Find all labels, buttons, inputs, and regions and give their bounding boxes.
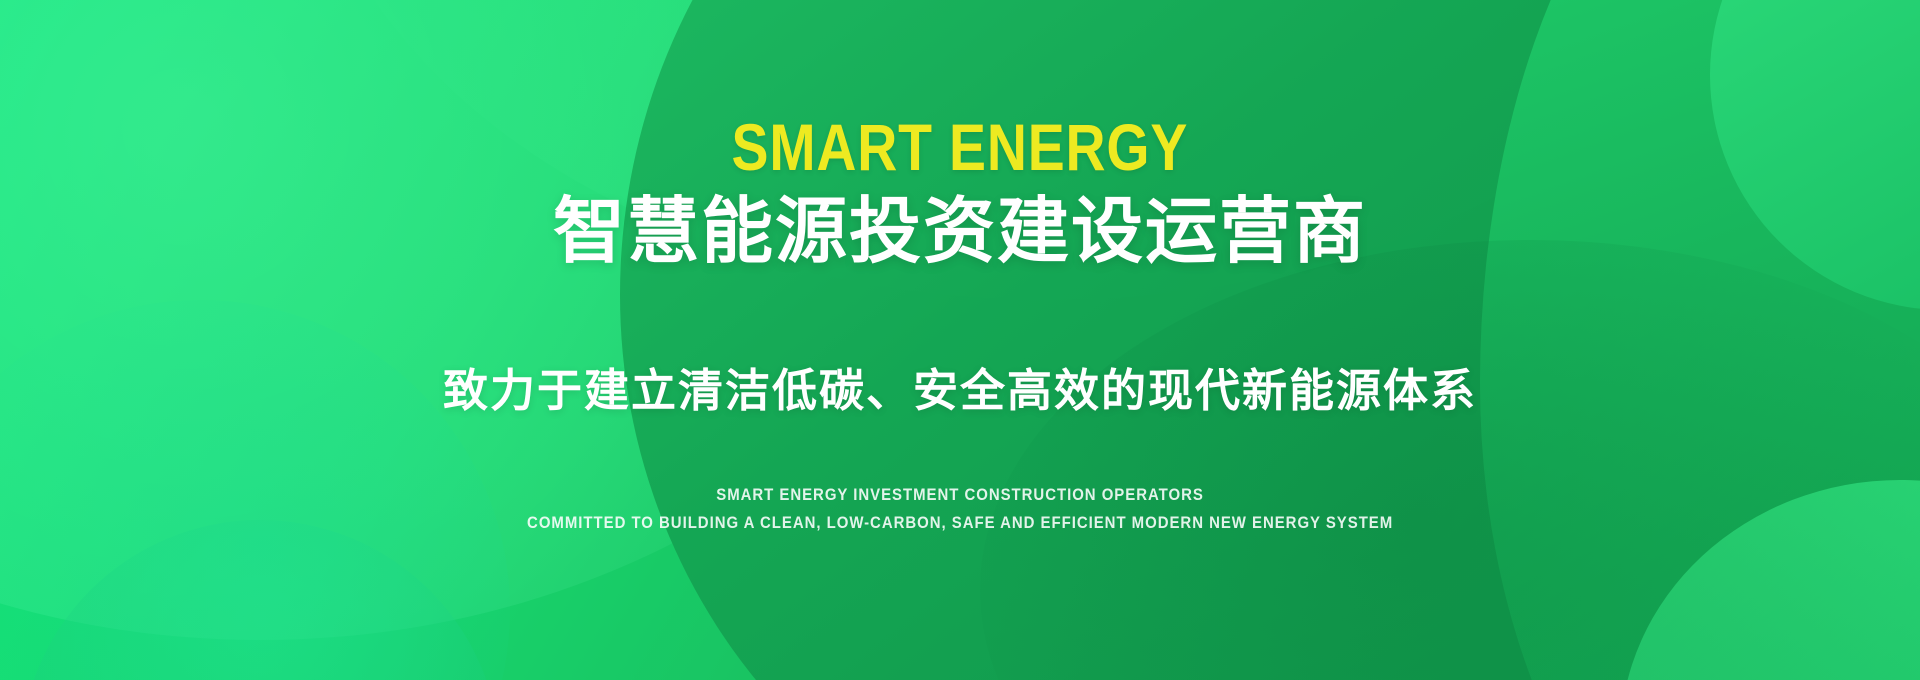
hero-english-tagline-line-1: SMART ENERGY INVESTMENT CONSTRUCTION OPE… [716,483,1204,508]
hero-subheadline-chinese: 致力于建立清洁低碳、安全高效的现代新能源体系 [443,366,1477,416]
hero-english-tagline-line-2: COMMITTED TO BUILDING A CLEAN, LOW-CARBO… [527,511,1393,536]
hero-headline-chinese: 智慧能源投资建设运营商 [553,194,1367,272]
hero-content: SMART ENERGY 智慧能源投资建设运营商 致力于建立清洁低碳、安全高效的… [0,0,1920,680]
hero-eyebrow-smart-energy: SMART ENERGY [732,114,1189,180]
hero-banner: SMART ENERGY 智慧能源投资建设运营商 致力于建立清洁低碳、安全高效的… [0,0,1920,680]
